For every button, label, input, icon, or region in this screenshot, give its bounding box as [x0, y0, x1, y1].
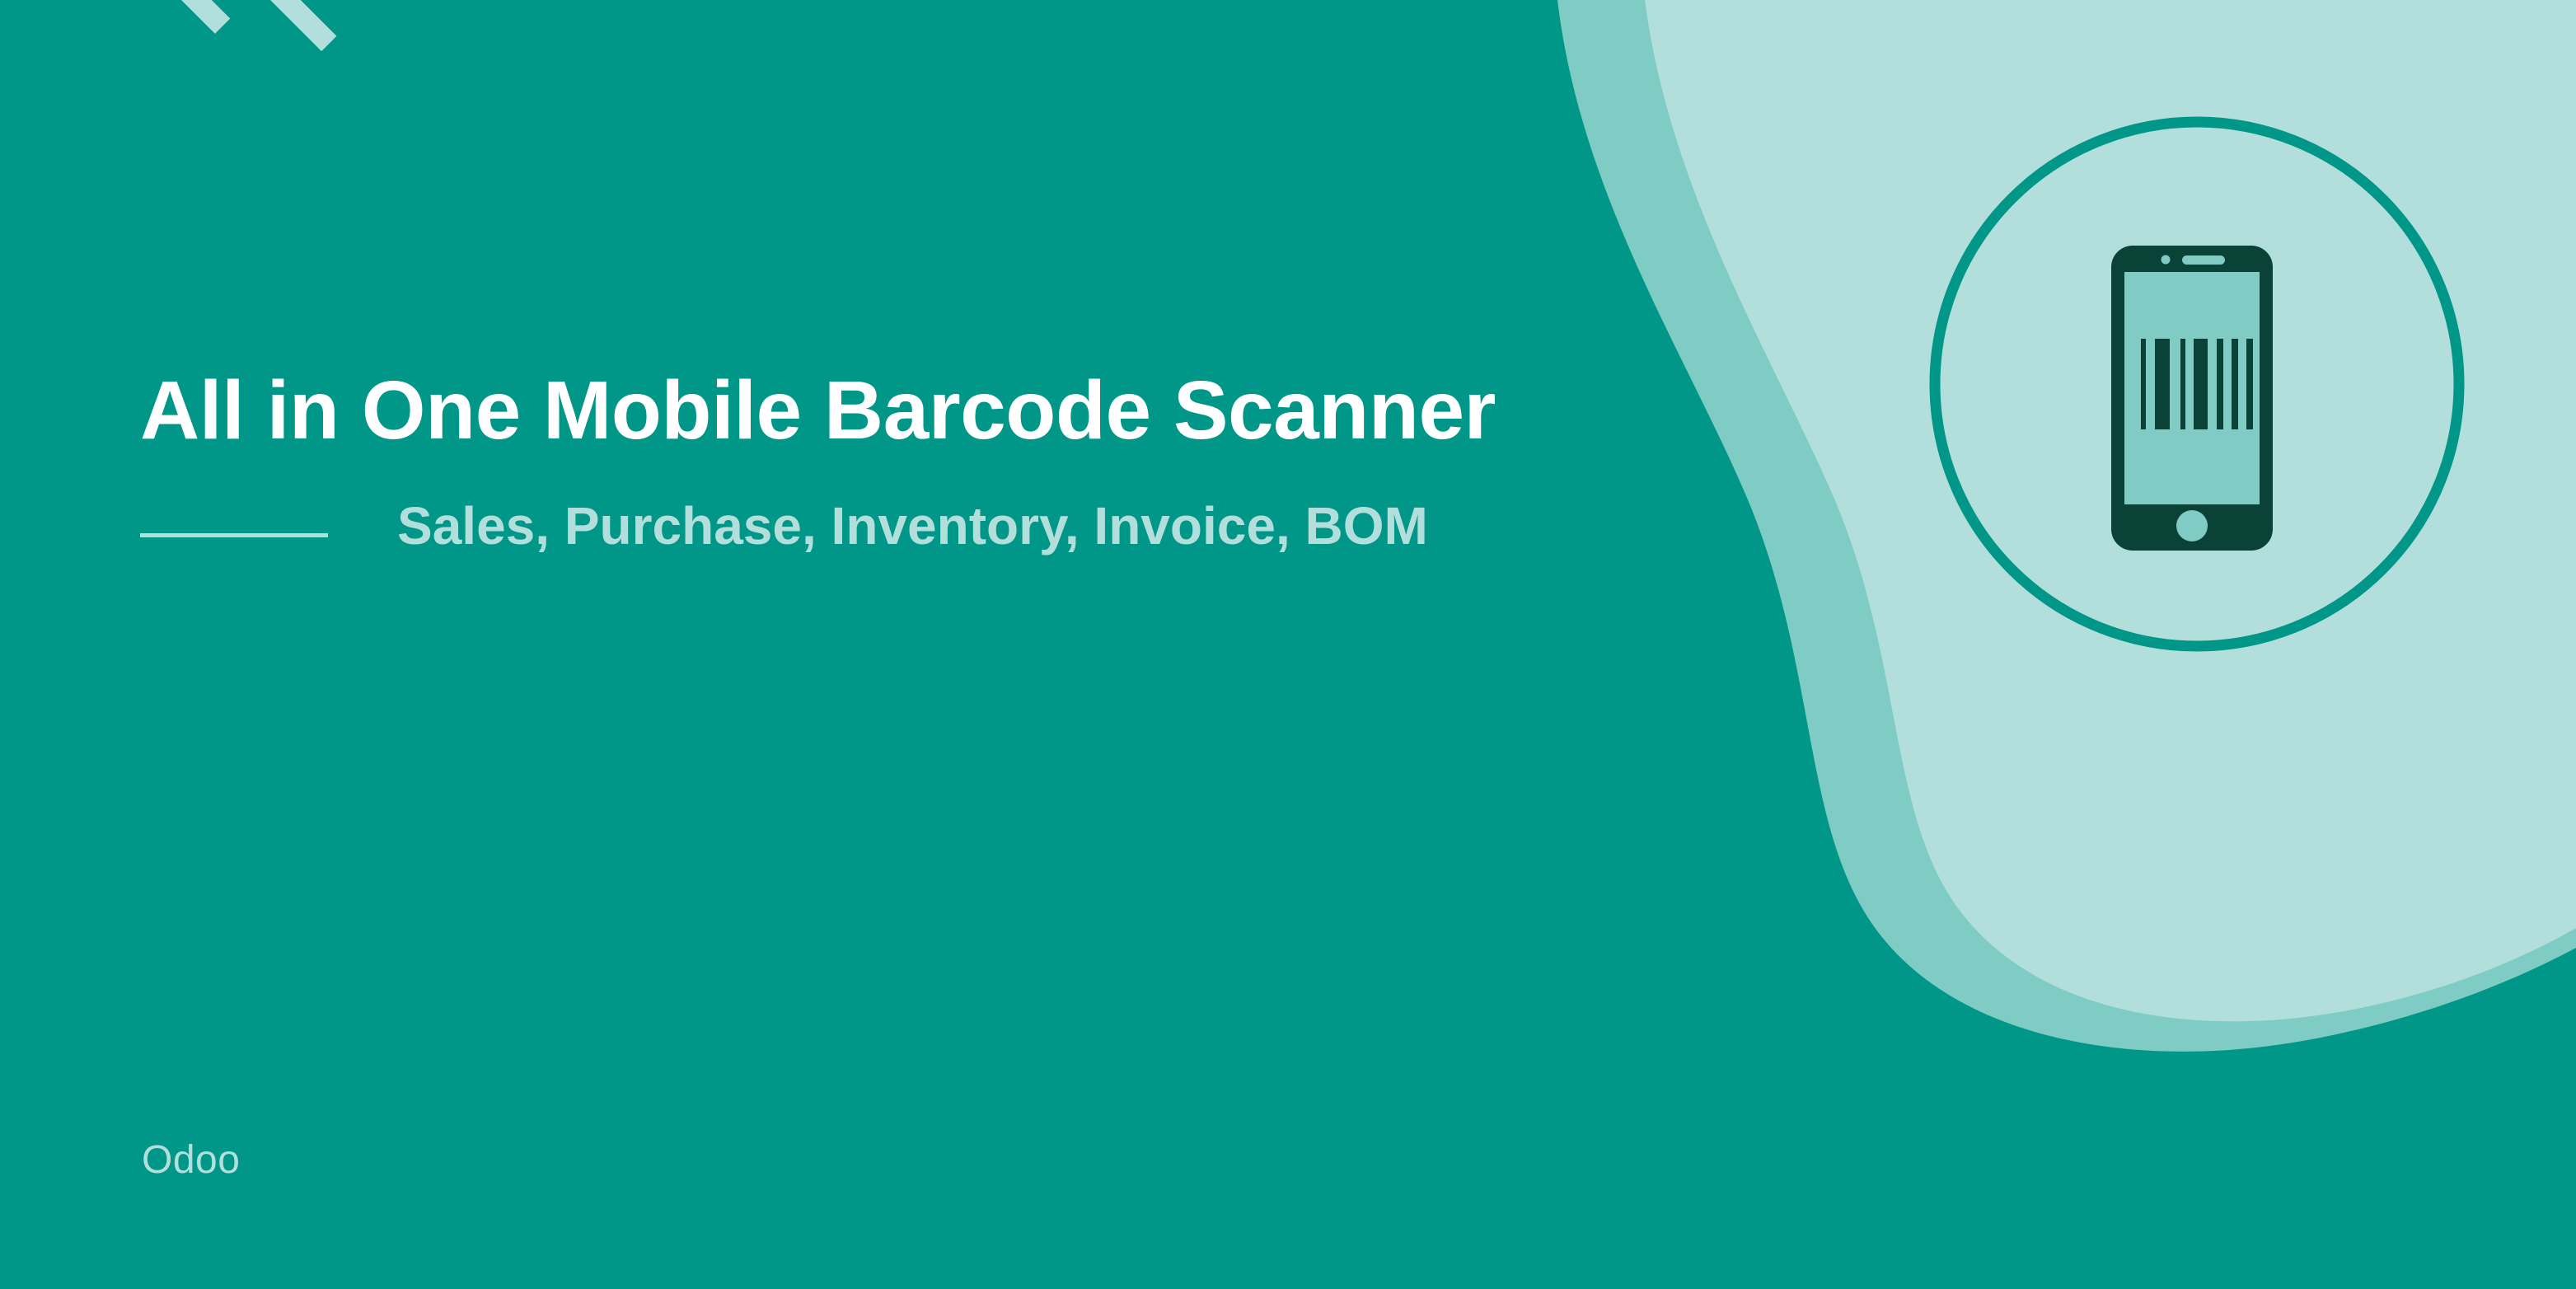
subtitle-row: Sales, Purchase, Inventory, Invoice, BOM: [140, 494, 1722, 559]
barcode-icon: [2141, 339, 2253, 429]
camera-dot-icon: [2161, 255, 2171, 265]
speaker-slot-icon: [2182, 255, 2225, 265]
text-block: All in One Mobile Barcode Scanner Sales,…: [140, 363, 1722, 559]
home-button-icon: [2176, 510, 2208, 541]
slide-canvas: All in One Mobile Barcode Scanner Sales,…: [0, 0, 2576, 1289]
page-subtitle: Sales, Purchase, Inventory, Invoice, BOM: [397, 494, 1428, 559]
page-title: All in One Mobile Barcode Scanner: [140, 363, 1706, 459]
phone-barcode-svg: [1918, 107, 2479, 668]
brand-label: Odoo: [142, 1137, 240, 1183]
phone-barcode-icon: [1918, 107, 2479, 668]
subtitle-rule-icon: [140, 533, 328, 537]
